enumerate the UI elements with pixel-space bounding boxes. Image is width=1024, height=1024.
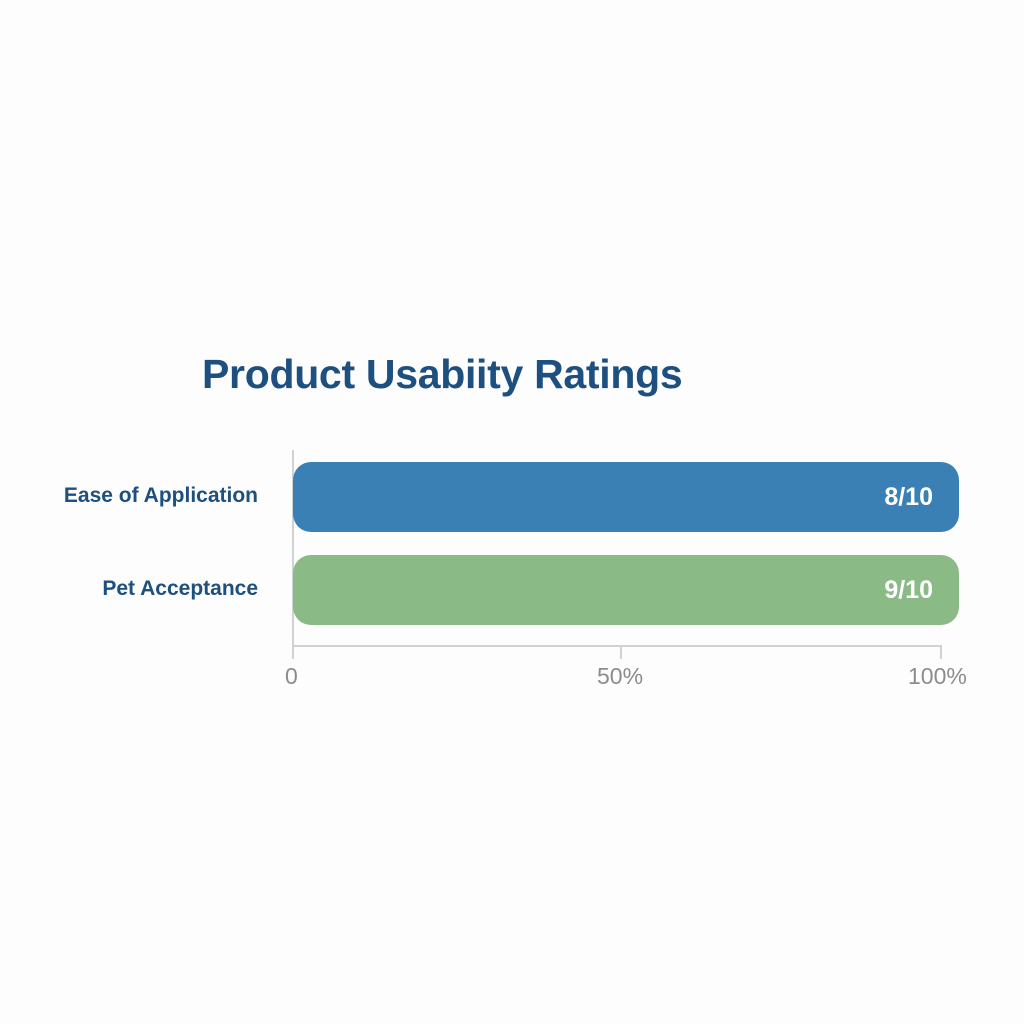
bar-row-pet-acceptance: Pet Acceptance 9/10 (0, 555, 1024, 625)
x-axis-tick-0 (292, 646, 294, 659)
x-axis-tick-100 (940, 646, 942, 659)
x-axis-tick-label-0: 0 (285, 663, 298, 690)
bar-value-label-ease-of-application: 8/10 (884, 462, 933, 532)
bar-row-ease-of-application: Ease of Application 8/10 (0, 462, 1024, 532)
bar-chart-figure: Product Usabiity Ratings Ease of Applica… (0, 0, 1024, 1024)
bar-track-pet-acceptance: 9/10 (293, 555, 959, 625)
bar-ease-of-application[interactable]: 8/10 (293, 462, 959, 532)
bar-category-label-pet-acceptance: Pet Acceptance (0, 577, 258, 601)
bar-category-label-ease-of-application: Ease of Application (0, 484, 258, 508)
x-axis-tick-50 (620, 646, 622, 659)
bar-value-label-pet-acceptance: 9/10 (884, 555, 933, 625)
x-axis-line (292, 645, 942, 647)
x-axis-tick-label-50: 50% (597, 663, 643, 690)
bar-track-ease-of-application: 8/10 (293, 462, 959, 532)
bar-pet-acceptance[interactable]: 9/10 (293, 555, 959, 625)
chart-title: Product Usabiity Ratings (202, 352, 822, 397)
x-axis-tick-label-100: 100% (908, 663, 967, 690)
